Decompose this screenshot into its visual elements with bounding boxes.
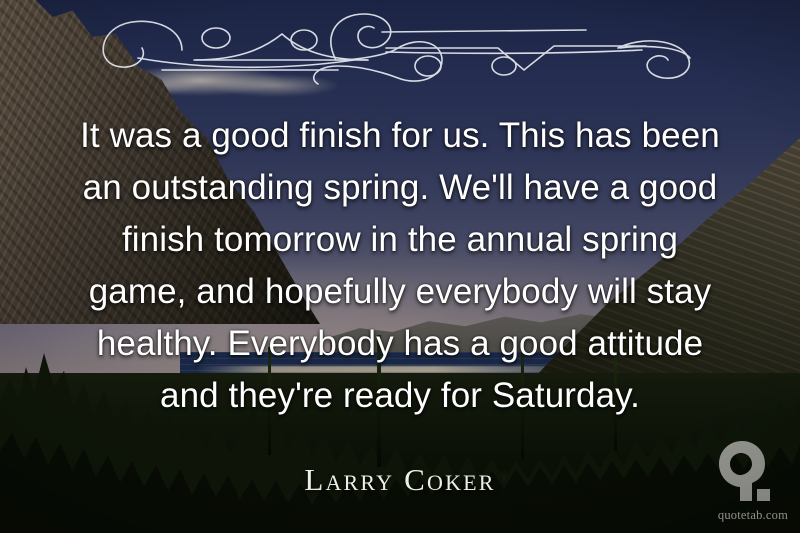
quote-line: game, and hopefully everybody will stay xyxy=(52,266,748,318)
quote-line: healthy. Everybody has a good attitude xyxy=(52,318,748,370)
watermark[interactable]: quotetab.com xyxy=(700,439,788,523)
quote-author: Larry Coker xyxy=(0,462,800,498)
quote-line: finish tomorrow in the annual spring xyxy=(52,214,748,266)
quote-line: an outstanding spring. We'll have a good xyxy=(52,162,748,214)
watermark-site-label[interactable]: quotetab.com xyxy=(700,508,788,523)
flourish-divider-ornament xyxy=(86,8,714,88)
quote-text: It was a good finish for us. This has be… xyxy=(52,110,748,422)
quote-image-card: It was a good finish for us. This has be… xyxy=(0,0,800,533)
quote-line: It was a good finish for us. This has be… xyxy=(52,110,748,162)
quotetab-q-logo-icon[interactable] xyxy=(718,439,774,501)
quote-line: and they're ready for Saturday. xyxy=(52,370,748,422)
